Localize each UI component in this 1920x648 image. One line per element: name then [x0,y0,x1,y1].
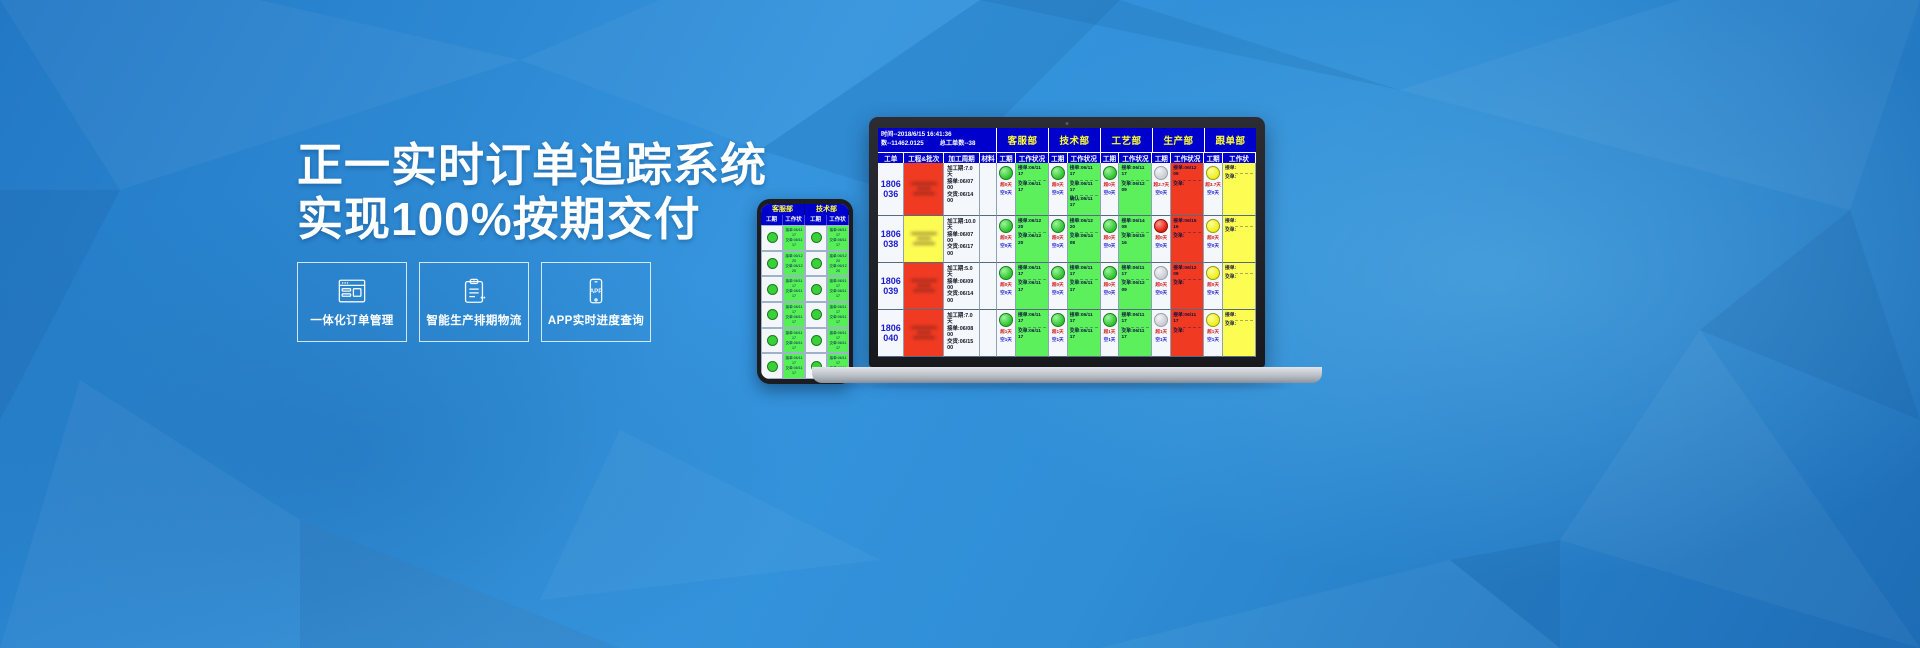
column-header-dept3-duration: 工期 [1152,152,1171,163]
idle-days: 空0天 [1000,290,1012,296]
status-line: 接单:06/11 17交单:06/11 17 [784,356,804,376]
status-line: 交单:06/14 08 [1070,234,1098,248]
svg-text:APP: APP [590,287,603,294]
cell-dept0-duration[interactable]: 超1天空1天 [997,310,1016,357]
cell-dept4-duration[interactable]: 超0天空0天 [1204,216,1223,263]
status-line: 接单:06/11 17交单:06/11 17 [784,228,804,248]
column-header-dept4-status: 工作状 [1223,152,1256,163]
cell-dept0-work-status[interactable]: 接单:06/11 17交单:06/11 17 [1016,263,1049,310]
column-header-dept2-status: 工作状况 [1119,152,1152,163]
overdue-days: 超1天 [1155,329,1167,335]
status-indicator-green [999,166,1013,180]
column-header-material: 材料 [980,152,997,163]
phone-status-indicator-cell[interactable] [761,251,783,277]
status-indicator-green [1103,166,1117,180]
dashboard-column-headers: 工单工程&批次加工周期材料工期工作状况工期工作状况工期工作状况工期工作状况工期工… [878,152,1256,163]
phone-status-indicator-cell[interactable] [761,276,783,302]
cell-dept4-work-status[interactable]: 接单:交单: [1223,263,1256,310]
status-indicator-green [767,284,778,295]
phone-status-text-cell[interactable]: 接单:06/11 17交单:06/11 17 [783,225,805,251]
status-indicator-green [1051,219,1065,233]
dashboard-rows: 1806036加工期:7.0天接单:06/07 00交货:06/14 00超0天… [878,163,1256,357]
idle-days: 空0天 [1104,190,1116,196]
overdue-days: 超0天 [1207,235,1219,241]
idle-days: 空0天 [1155,290,1167,296]
promo-banner: 正一实时订单追踪系统 实现100%按期交付 一体化订单管理 [0,0,1920,648]
status-line: 交单:06/15 16 [1121,234,1149,248]
status-line: 交单: [1225,275,1253,282]
cell-order-number[interactable]: 1806038 [878,216,904,263]
dashboard-header: 时间--2018/6/15 16:41:36 数--11462.0125 总工单… [878,128,1256,152]
idle-days: 空0天 [1155,243,1167,249]
idle-days: 空1天 [1207,337,1219,343]
webcam-icon [1066,122,1069,125]
phone-status-indicator-cell[interactable] [761,225,783,251]
column-header-dept4-duration: 工期 [1204,152,1223,163]
status-line: 接单: [1225,313,1253,321]
status-line: 接单: [1225,219,1253,227]
idle-days: 空1天 [1104,337,1116,343]
status-line: 接单:06/12 20 [1070,219,1098,234]
status-line: 交单: [1225,322,1253,329]
status-line: 交单:06/11 17 [1018,329,1046,343]
overdue-days: 超0天 [1000,182,1012,188]
order-tracking-dashboard: 时间--2018/6/15 16:41:36 数--11462.0125 总工单… [878,128,1256,357]
column-header-dept1-duration: 工期 [1049,152,1068,163]
laptop-mockup: 时间--2018/6/15 16:41:36 数--11462.0125 总工单… [812,117,1322,417]
status-indicator-green [1051,266,1065,280]
cell-dept1-duration[interactable]: 超0天空0天 [1049,263,1068,310]
status-line: 接单:06/12 09 [1173,266,1201,281]
idle-days: 空0天 [1207,190,1219,196]
status-indicator-green [1051,313,1065,327]
status-line: 交单:06/11 17 [1121,329,1149,343]
cell-dept3-duration[interactable]: 超0天空0天 [1152,263,1171,310]
phone-status-indicator-cell[interactable] [761,302,783,328]
idle-days: 空0天 [1000,243,1012,249]
status-line: 接单:06/12 09 [1173,166,1201,181]
status-line: 交单:06/11 17 [1070,281,1098,295]
status-indicator-yellow [1206,266,1220,280]
phone-status-text-cell[interactable]: 接单:06/12 20交单:06/12 20 [783,251,805,277]
overdue-days: 超0天 [1155,235,1167,241]
cell-dept1-duration[interactable]: 超0天空0天 [1049,163,1068,216]
dashboard-total-orders: 总工单数--38 [940,139,976,148]
status-line: 交单:06/12 09 [1121,281,1149,295]
cell-dept1-duration[interactable]: 超1天空1天 [1049,310,1068,357]
cell-dept4-duration[interactable]: 超3.7天空0天 [1204,163,1223,216]
status-line: 接单:06/11 17交单:06/11 17 [784,279,804,299]
status-indicator-green [1103,313,1117,327]
cell-material [980,263,997,310]
overdue-days: 超0天 [1052,282,1064,288]
status-line: 接单:06/11 17 [1070,313,1098,328]
status-indicator-green [1103,219,1117,233]
cell-order-number[interactable]: 1806040 [878,310,904,357]
status-line: 交单: [1173,329,1201,336]
phone-col-duration-1: 工期 [761,215,783,225]
cell-dept3-work-status[interactable]: 接单:06/15 16交单: [1171,216,1204,263]
phone-dept-customer-service[interactable]: 客服部 [761,204,805,215]
column-header-dept0-status: 工作状况 [1016,152,1049,163]
status-line: 接单:06/11 17 [1121,313,1149,328]
status-line: 接单:06/15 16 [1173,219,1201,234]
cell-dept1-work-status[interactable]: 接单:06/11 17交单:06/11 17 [1068,310,1101,357]
laptop-base [812,367,1322,383]
cell-order-number[interactable]: 1806039 [878,263,904,310]
status-indicator-green [1103,266,1117,280]
laptop-screen: 时间--2018/6/15 16:41:36 数--11462.0125 总工单… [878,128,1256,357]
phone-status-text-cell[interactable]: 接单:06/11 17交单:06/11 17 [783,328,805,354]
feature-item-app-progress-query[interactable]: APP APP实时进度查询 [541,262,651,342]
cell-project-batch[interactable] [904,163,944,216]
status-line: 交单:06/11 17 [1018,281,1046,295]
phone-status-text-cell[interactable]: 接单:06/11 17交单:06/11 17 [783,302,805,328]
phone-status-indicator-cell[interactable] [761,353,783,379]
idle-days: 空0天 [1052,243,1064,249]
status-line: 交单:06/12 20 [1018,234,1046,248]
cell-process-cycle: 加工期:5.0天接单:06/09 00交货:06/14 00 [944,263,980,310]
cell-dept2-work-status[interactable]: 接单:06/11 17交单:06/12 09 [1119,163,1152,216]
status-line: 交单: [1173,281,1201,288]
idle-days: 空0天 [1207,290,1219,296]
phone-status-indicator-cell[interactable] [761,328,783,354]
idle-days: 空1天 [1000,337,1012,343]
overdue-days: 超1天 [1104,329,1116,335]
cell-dept4-duration[interactable]: 超1天空1天 [1204,310,1223,357]
status-indicator-green [767,258,778,269]
cell-dept0-work-status[interactable]: 接单:06/11 17交单:06/11 17 [1016,163,1049,216]
status-line: 交单: [1225,228,1253,235]
cell-project-batch[interactable] [904,216,944,263]
status-line: 交单: [1173,182,1201,189]
dashboard-time: 时间--2018/6/15 16:41:36 [881,130,996,139]
status-indicator-green [999,266,1013,280]
overdue-days: 超0天 [1000,235,1012,241]
overdue-days: 超0天 [1155,282,1167,288]
status-line: 交单:06/11 17 [1070,182,1098,197]
column-header-order: 工单 [878,152,904,163]
overdue-days: 超0天 [1000,282,1012,288]
idle-days: 空0天 [1104,243,1116,249]
feature-item-production-scheduling[interactable]: 智能生产排期物流 [419,262,529,342]
feature-label: APP实时进度查询 [548,312,644,328]
status-indicator-green [767,335,778,346]
cell-dept1-duration[interactable]: 超0天空0天 [1049,216,1068,263]
overdue-days: 超1天 [1207,329,1219,335]
table-row[interactable]: 1806040加工期:7.0天接单:06/08 00交货:06/15 00超1天… [878,310,1256,357]
status-indicator-gray [1154,166,1168,180]
feature-label: 智能生产排期物流 [426,312,521,328]
laptop-lid: 时间--2018/6/15 16:41:36 数--11462.0125 总工单… [869,117,1265,367]
feature-list: 一体化订单管理 智能生产排期物流 APP APP实时进度查询 [297,262,651,342]
cell-dept3-duration[interactable]: 超0天空0天 [1152,216,1171,263]
cell-dept1-work-status[interactable]: 接单:06/12 20交单:06/14 08 [1068,216,1101,263]
feature-label: 一体化订单管理 [310,312,393,328]
status-indicator-yellow [1206,166,1220,180]
overdue-days: 超0天 [1104,235,1116,241]
cell-dept3-work-status[interactable]: 接单:06/12 09交单: [1171,163,1204,216]
overdue-days: 超0天 [1104,182,1116,188]
column-header-dept0-duration: 工期 [997,152,1016,163]
status-line: 接单:06/11 17 [1018,266,1046,281]
idle-days: 空0天 [1104,290,1116,296]
cell-order-number[interactable]: 1806036 [878,163,904,216]
mobile-app-icon: APP [581,277,611,305]
status-line: 接单:06/11 17 [1173,313,1201,328]
cell-dept0-duration[interactable]: 超0天空0天 [997,216,1016,263]
status-line: 交单: [1225,175,1253,182]
cell-dept4-work-status[interactable]: 接单:交单: [1223,163,1256,216]
dept-header-merchandising[interactable]: 跟单部 [1205,128,1256,152]
cell-dept2-duration[interactable]: 超0天空0天 [1101,163,1120,216]
status-line: 交单: [1173,234,1201,241]
idle-days: 空0天 [1052,190,1064,196]
cell-dept1-work-status[interactable]: 接单:06/11 17交单:06/11 17 [1068,263,1101,310]
idle-days: 空0天 [1052,290,1064,296]
cell-dept4-work-status[interactable]: 接单:交单: [1223,310,1256,357]
dashboard-meta: 时间--2018/6/15 16:41:36 数--11462.0125 总工单… [878,128,997,152]
status-indicator-gray [1154,313,1168,327]
feature-item-order-management[interactable]: 一体化订单管理 [297,262,407,342]
column-header-process-cycle: 加工周期 [944,152,980,163]
cell-dept3-duration[interactable]: 超1天空1天 [1152,310,1171,357]
status-line: 接单: [1225,266,1253,274]
phone-status-text-cell[interactable]: 接单:06/11 17交单:06/11 17 [783,276,805,302]
status-indicator-green [1051,166,1065,180]
status-indicator-green [767,232,778,243]
cell-dept1-work-status[interactable]: 接单:06/11 17交单:06/11 17确认:06/11 17 [1068,163,1101,216]
cell-dept2-duration[interactable]: 超0天空0天 [1101,263,1120,310]
status-indicator-green [999,313,1013,327]
column-header-dept2-duration: 工期 [1101,152,1120,163]
status-line: 接单:06/11 17 [1121,266,1149,281]
cell-process-cycle: 加工期:7.0天接单:06/08 00交货:06/15 00 [944,310,980,357]
column-header-dept3-status: 工作状况 [1171,152,1204,163]
status-indicator-yellow [1206,313,1220,327]
column-header-project-batch: 工程&批次 [904,152,944,163]
cell-dept0-work-status[interactable]: 接单:06/12 20交单:06/12 20 [1016,216,1049,263]
status-line: 交单:06/11 17 [1018,182,1046,196]
cell-dept2-work-status[interactable]: 接单:06/11 17交单:06/12 09 [1119,263,1152,310]
dashboard-icon [337,277,367,305]
phone-column-duration-1 [761,225,783,379]
phone-col-status-1: 工作状况 [783,215,805,225]
cell-material [980,163,997,216]
clipboard-icon [459,277,489,305]
cell-dept2-duration[interactable]: 超0天空0天 [1101,216,1120,263]
overdue-days: 超0天 [1052,182,1064,188]
idle-days: 空0天 [1155,190,1167,196]
cell-dept4-duration[interactable]: 超0天空0天 [1204,263,1223,310]
overdue-days: 超0天 [1052,235,1064,241]
idle-days: 空1天 [1052,337,1064,343]
dashboard-counter: 数--11462.0125 [881,139,924,148]
overdue-days: 超0天 [1207,282,1219,288]
status-indicator-red [1154,219,1168,233]
status-line: 确认:06/11 17 [1070,197,1098,211]
status-indicator-green [999,219,1013,233]
status-line: 交单:06/11 17 [1070,329,1098,343]
status-line: 接单:06/11 17交单:06/11 17 [784,305,804,325]
overdue-days: 超3.7天 [1205,182,1221,188]
phone-column-status-1: 接单:06/11 17交单:06/11 17接单:06/12 20交单:06/1… [783,225,805,379]
cell-dept2-work-status[interactable]: 接单:06/14 08交单:06/15 16 [1119,216,1152,263]
cell-material [980,216,997,263]
column-header-dept1-status: 工作状况 [1068,152,1101,163]
status-line: 接单:06/14 08 [1121,219,1149,234]
status-indicator-green [767,309,778,320]
status-line: 接单: [1225,166,1253,174]
dept-header-technical[interactable]: 技术部 [1049,128,1101,152]
table-row[interactable]: 1806039加工期:5.0天接单:06/09 00交货:06/14 00超0天… [878,263,1256,310]
table-row[interactable]: 1806036加工期:7.0天接单:06/07 00交货:06/14 00超0天… [878,163,1256,216]
cell-dept4-work-status[interactable]: 接单:交单: [1223,216,1256,263]
dept-header-production[interactable]: 生产部 [1153,128,1205,152]
cell-dept3-work-status[interactable]: 接单:06/12 09交单: [1171,263,1204,310]
idle-days: 空0天 [1207,243,1219,249]
idle-days: 空1天 [1155,337,1167,343]
status-indicator-yellow [1206,219,1220,233]
status-line: 接单:06/11 17 [1121,166,1149,181]
status-line: 接单:06/11 17 [1018,166,1046,181]
cell-dept3-duration[interactable]: 超2.7天空0天 [1152,163,1171,216]
status-line: 接单:06/11 17交单:06/11 17 [784,331,804,351]
status-line: 接单:06/12 20交单:06/12 20 [784,254,804,274]
overdue-days: 超0天 [1104,282,1116,288]
status-line: 接单:06/11 17 [1070,266,1098,281]
cell-dept2-duration[interactable]: 超1天空1天 [1101,310,1120,357]
overdue-days: 超2.7天 [1154,182,1170,188]
overdue-days: 超1天 [1052,329,1064,335]
status-line: 接单:06/12 20 [1018,219,1046,234]
cell-material [980,310,997,357]
cell-process-cycle: 加工期:7.0天接单:06/07 00交货:06/14 00 [944,163,980,216]
status-indicator-green [767,361,778,372]
cell-dept0-duration[interactable]: 超0天空0天 [997,263,1016,310]
cell-dept0-duration[interactable]: 超0天空0天 [997,163,1016,216]
laptop-shadow [842,383,1292,388]
phone-status-text-cell[interactable]: 接单:06/11 17交单:06/11 17 [783,353,805,379]
status-indicator-gray [1154,266,1168,280]
dept-header-process[interactable]: 工艺部 [1101,128,1153,152]
cell-process-cycle: 加工期:10.0天接单:06/07 00交货:06/17 00 [944,216,980,263]
dept-header-customer-service[interactable]: 客服部 [997,128,1049,152]
status-line: 接单:06/11 17 [1018,313,1046,328]
status-line: 接单:06/11 17 [1070,166,1098,181]
cell-dept0-work-status[interactable]: 接单:06/11 17交单:06/11 17 [1016,310,1049,357]
cell-dept2-work-status[interactable]: 接单:06/11 17交单:06/11 17 [1119,310,1152,357]
overdue-days: 超1天 [1000,329,1012,335]
idle-days: 空0天 [1000,190,1012,196]
table-row[interactable]: 1806038加工期:10.0天接单:06/07 00交货:06/17 00超0… [878,216,1256,263]
cell-project-batch[interactable] [904,263,944,310]
cell-dept3-work-status[interactable]: 接单:06/11 17交单: [1171,310,1204,357]
cell-project-batch[interactable] [904,310,944,357]
status-line: 交单:06/12 09 [1121,182,1149,196]
